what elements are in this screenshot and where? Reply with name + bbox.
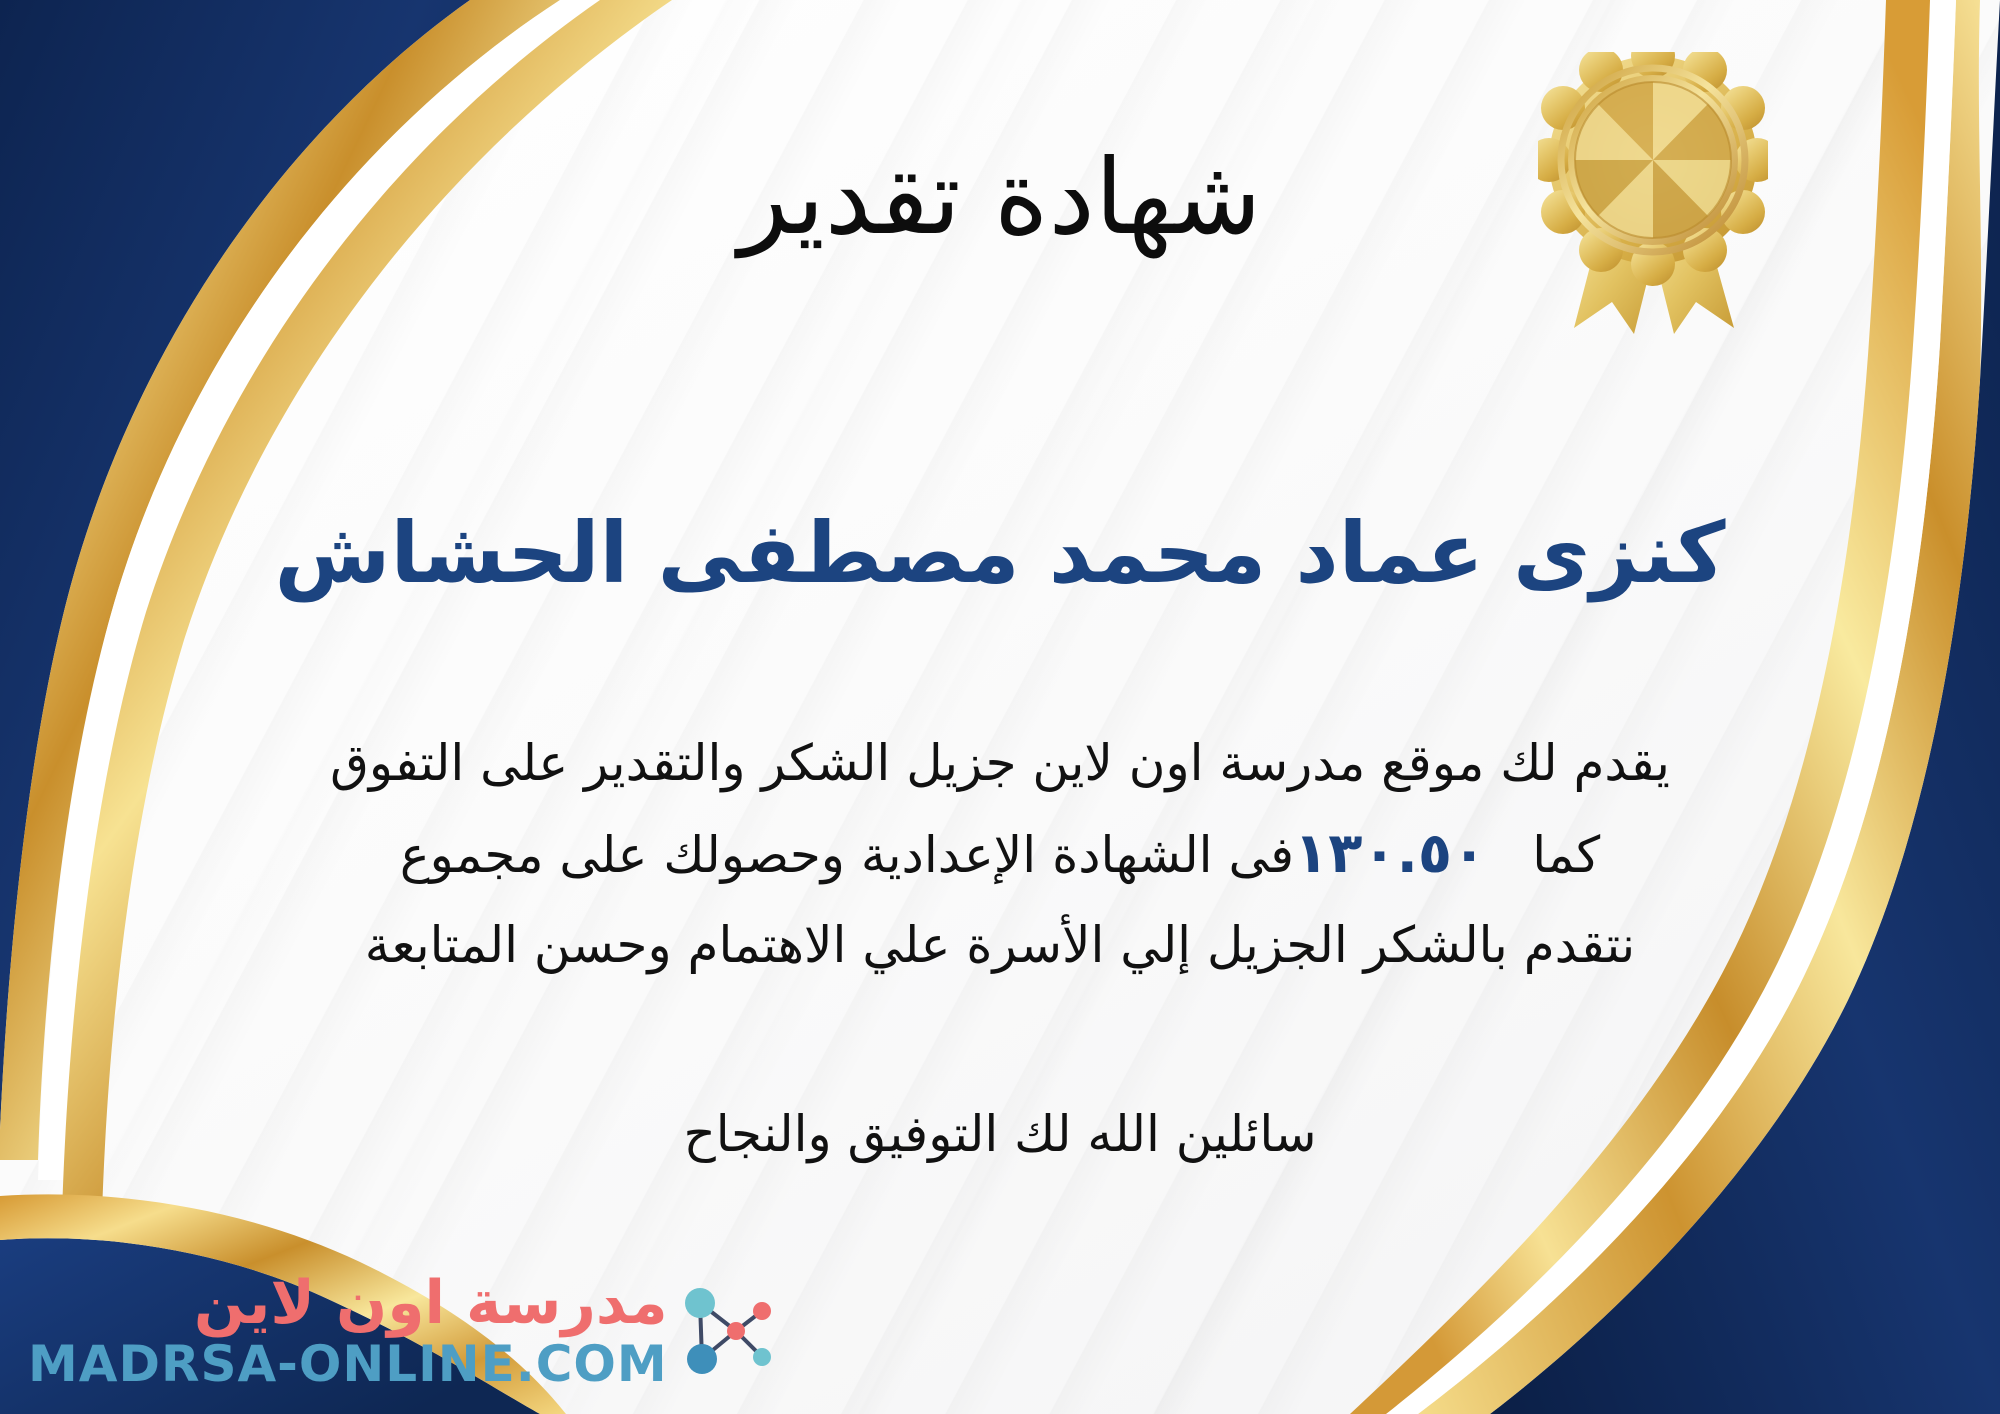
certificate-content: شهادة تقدير كنزى عماد محمد مصطفى الحشاش … [0, 0, 2000, 1414]
body-line-2-suffix: كما [1532, 812, 1600, 898]
recipient-name: كنزى عماد محمد مصطفى الحشاش [0, 505, 2000, 602]
brand-logo[interactable]: مدرسة اون لاين MADRSA-ONLINE.COM [28, 1270, 774, 1392]
brand-logo-text: مدرسة اون لاين MADRSA-ONLINE.COM [28, 1270, 668, 1392]
body-line-1: يقدم لك موقع مدرسة اون لاين جزيل الشكر و… [250, 720, 1750, 806]
body-line-3: نتقدم بالشكر الجزيل إلي الأسرة علي الاهت… [250, 902, 1750, 988]
grade-total-value: ١٣٠.٥٠ [1294, 806, 1532, 902]
brand-arabic-name: مدرسة اون لاين [194, 1270, 668, 1337]
certificate-body: يقدم لك موقع مدرسة اون لاين جزيل الشكر و… [250, 720, 1750, 988]
page-title: شهادة تقدير [0, 140, 2000, 254]
network-nodes-icon [678, 1277, 774, 1385]
brand-website-url: MADRSA-ONLINE.COM [28, 1337, 668, 1392]
certificate-canvas: شهادة تقدير كنزى عماد محمد مصطفى الحشاش … [0, 0, 2000, 1414]
body-line-2: كما ١٣٠.٥٠ فى الشهادة الإعدادية وحصولك ع… [250, 806, 1750, 902]
body-line-2-prefix: فى الشهادة الإعدادية وحصولك على مجموع [400, 812, 1294, 898]
closing-line: سائلين الله لك التوفيق والنجاح [0, 1105, 2000, 1163]
